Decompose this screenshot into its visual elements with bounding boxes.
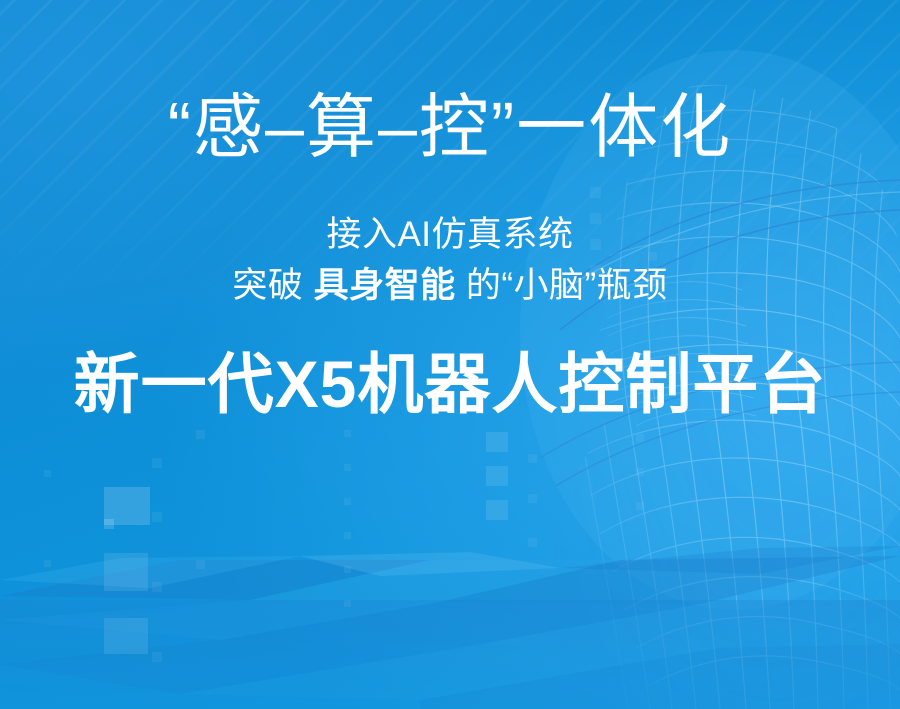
subtitle-emphasis: 具身智能	[314, 267, 456, 306]
poster-headline: “感–算–控”一体化	[0, 92, 900, 162]
poster-subtitle-line-1: 接入AI仿真系统	[0, 216, 900, 255]
subtitle-prefix: 突破	[232, 267, 303, 306]
poster-subtitle-line-2: 突破 具身智能 的“小脑”瓶颈	[0, 267, 900, 306]
poster-main-title: 新一代X5机器人控制平台	[0, 348, 900, 421]
poster-text-layer: “感–算–控”一体化 接入AI仿真系统 突破 具身智能 的“小脑”瓶颈 新一代X…	[0, 0, 900, 709]
subtitle-suffix: 的“小脑”瓶颈	[466, 267, 668, 306]
promo-poster: “感–算–控”一体化 接入AI仿真系统 突破 具身智能 的“小脑”瓶颈 新一代X…	[0, 0, 900, 709]
